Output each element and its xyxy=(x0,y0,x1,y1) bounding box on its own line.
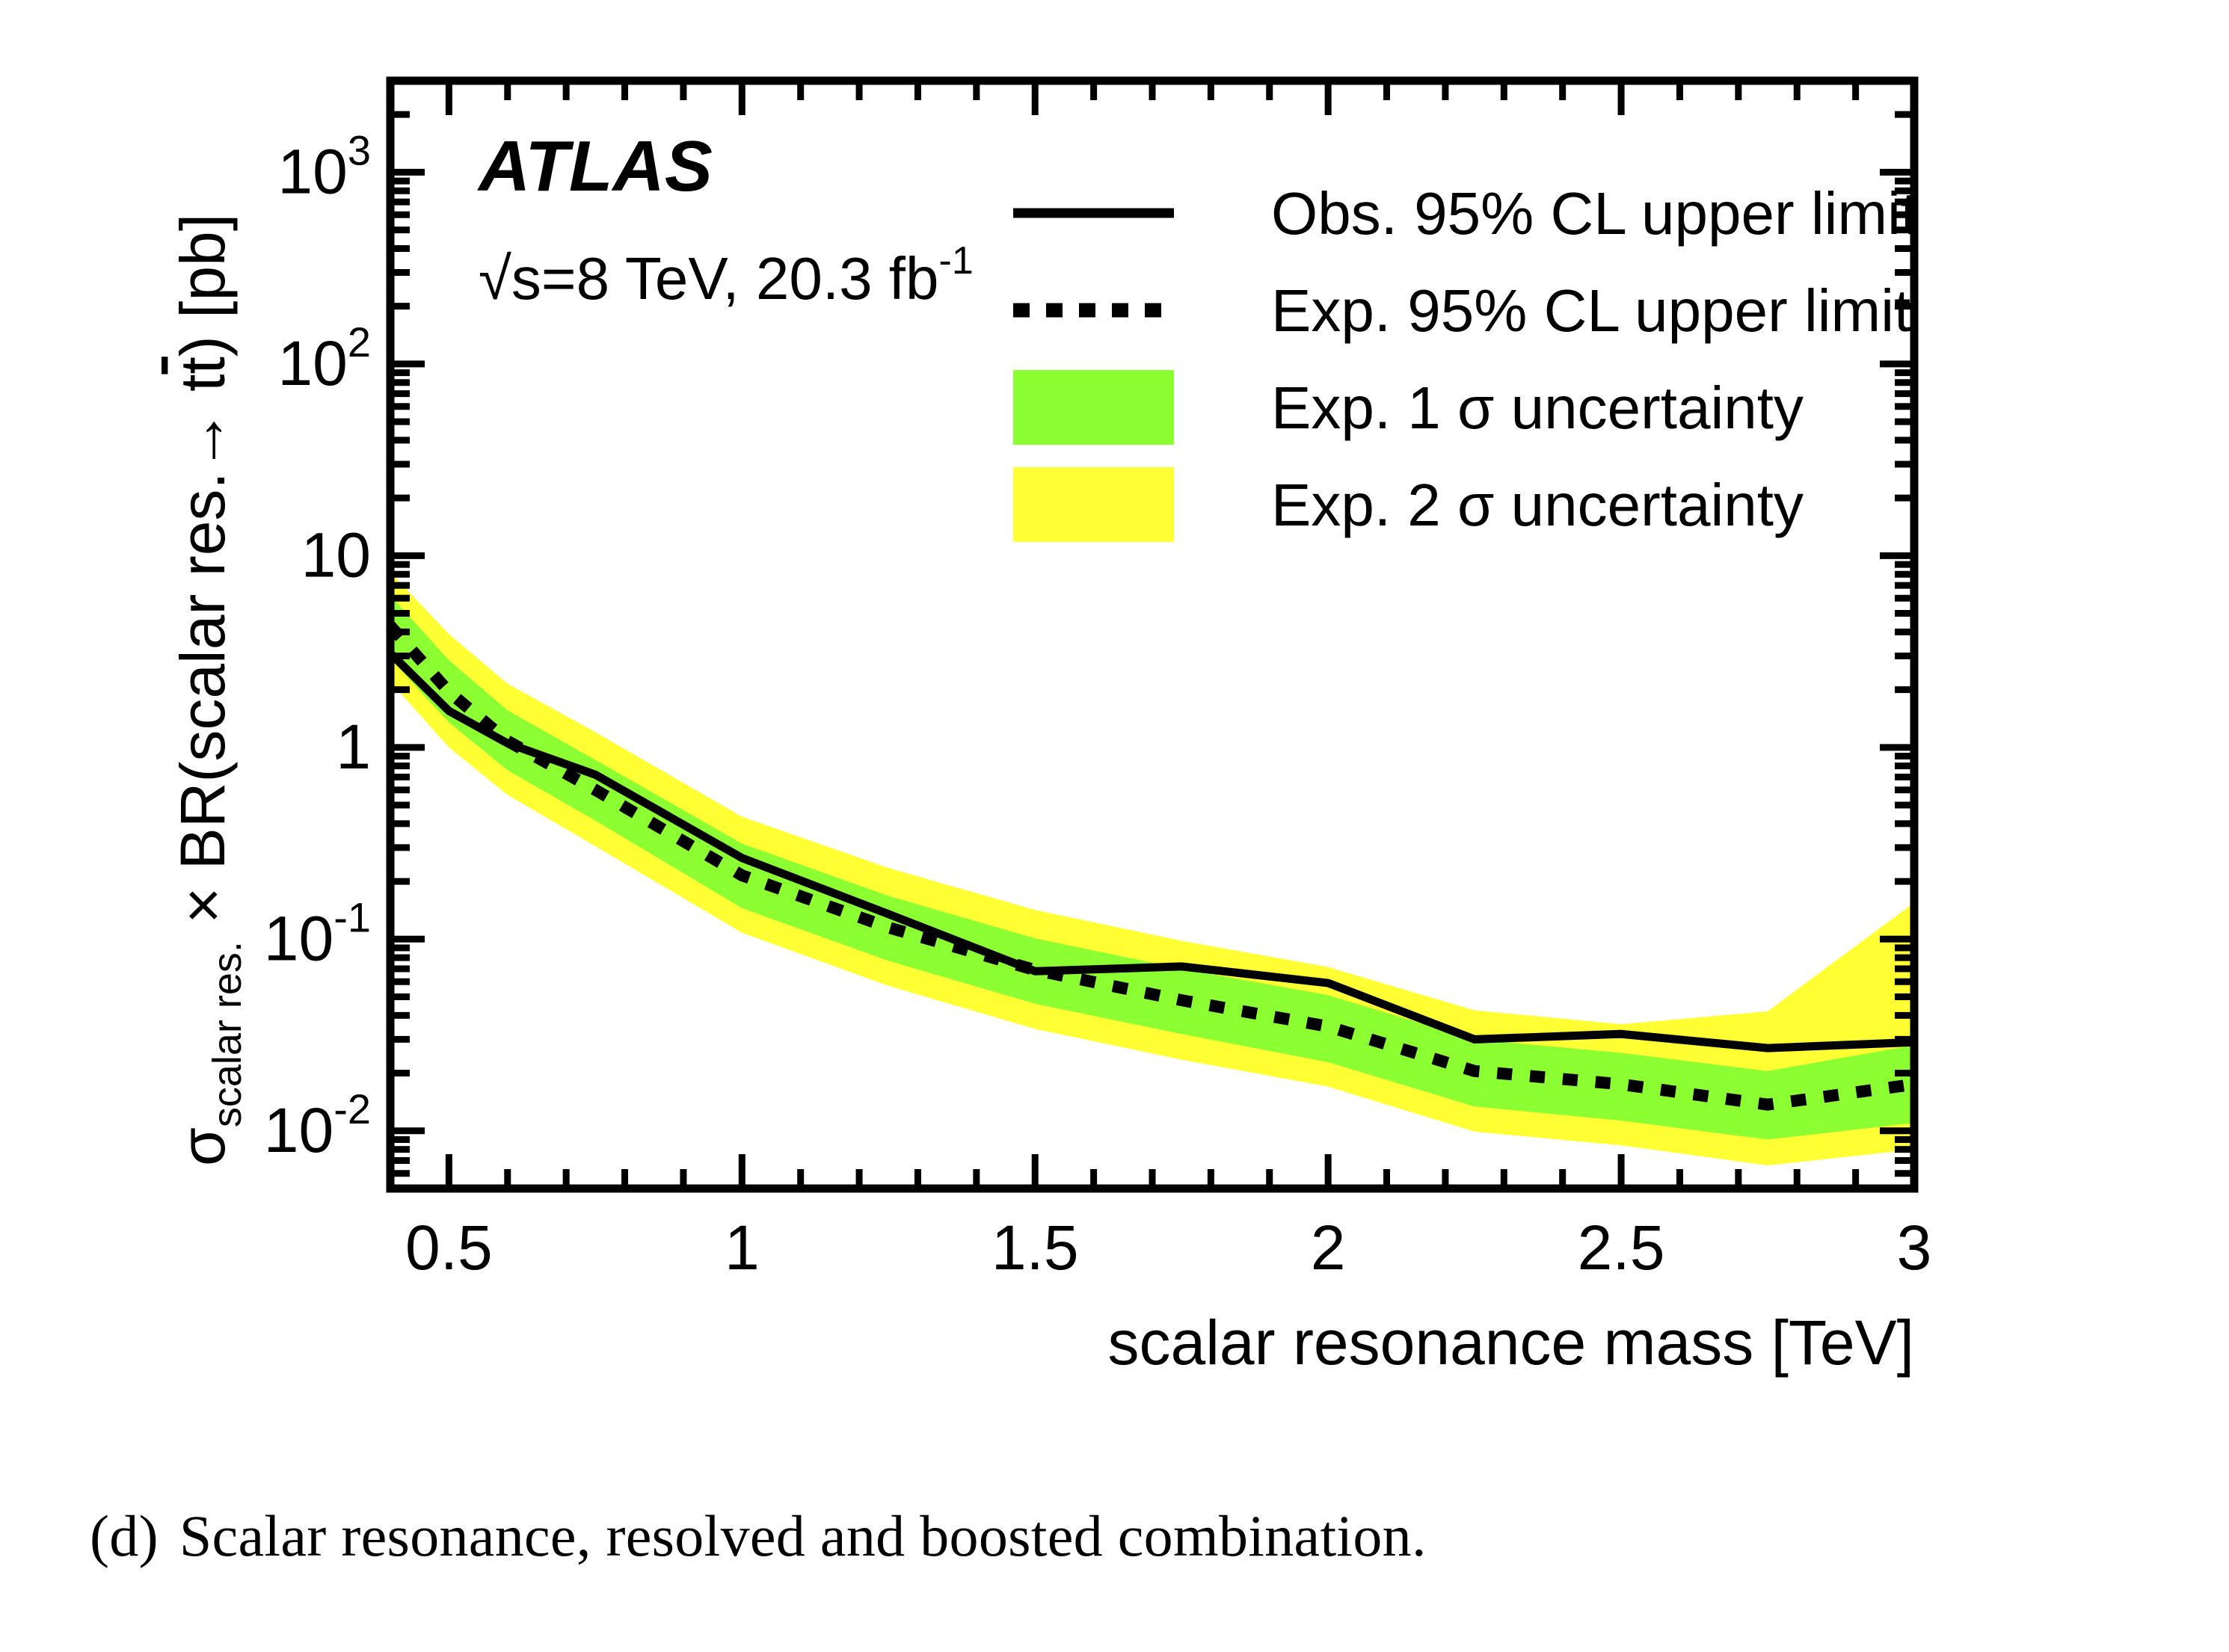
legend-label-observed: Obs. 95% CL upper limit xyxy=(1271,180,1917,247)
y-title-sigma: σ xyxy=(167,1127,238,1166)
canvas-background xyxy=(0,0,2229,1652)
x-tick-label: 3 xyxy=(1897,1212,1932,1283)
x-tick-label: 2.5 xyxy=(1578,1212,1665,1283)
x-tick-label: 2 xyxy=(1311,1212,1346,1283)
y-title-close: ) [pb] xyxy=(167,214,238,357)
x-tick-label: 0.5 xyxy=(405,1212,493,1283)
legend-swatch-box xyxy=(1013,370,1174,445)
luminosity-label: √s=8 TeV, 20.3 fb-1 xyxy=(479,239,974,312)
legend-label-exp2sigma: Exp. 2 σ uncertainty xyxy=(1271,472,1804,538)
figure-panel: 0.511.522.53 10-210-1110102103 scalar re… xyxy=(0,0,2229,1652)
x-axis-title-group: scalar resonance mass [TeV] xyxy=(1108,1307,1914,1378)
figure-caption: (d)Scalar resonance, resolved and booste… xyxy=(90,1502,2153,1570)
y-title-sigma-subscript: scalar res. xyxy=(205,941,250,1127)
legend-label-expected: Exp. 95% CL upper limit xyxy=(1271,277,1910,344)
x-axis-title: scalar resonance mass [TeV] xyxy=(1108,1307,1914,1378)
y-title-br: BR(scalar res.→ t xyxy=(167,375,238,870)
caption-tag: (d) xyxy=(90,1503,159,1568)
atlas-label: ATLAS xyxy=(477,126,713,206)
caption-text: Scalar resonance, resolved and boosted c… xyxy=(179,1503,1427,1568)
y-title-times: × xyxy=(167,887,238,924)
y-title-tbar: t xyxy=(167,357,238,374)
legend-item-exp2sigma xyxy=(1013,467,1174,542)
limit-plot-svg: 0.511.522.53 10-210-1110102103 scalar re… xyxy=(0,0,2229,1652)
x-tick-label: 1.5 xyxy=(991,1212,1079,1283)
y-tick-label: 1 xyxy=(336,712,371,782)
y-tick-label: 10 xyxy=(301,520,371,590)
luminosity-exponent: -1 xyxy=(939,239,974,283)
x-tick-label: 1 xyxy=(725,1212,760,1283)
legend-item-exp1sigma xyxy=(1013,370,1174,445)
legend-swatch-box xyxy=(1013,467,1174,542)
legend-label-exp1sigma: Exp. 1 σ uncertainty xyxy=(1271,375,1804,441)
